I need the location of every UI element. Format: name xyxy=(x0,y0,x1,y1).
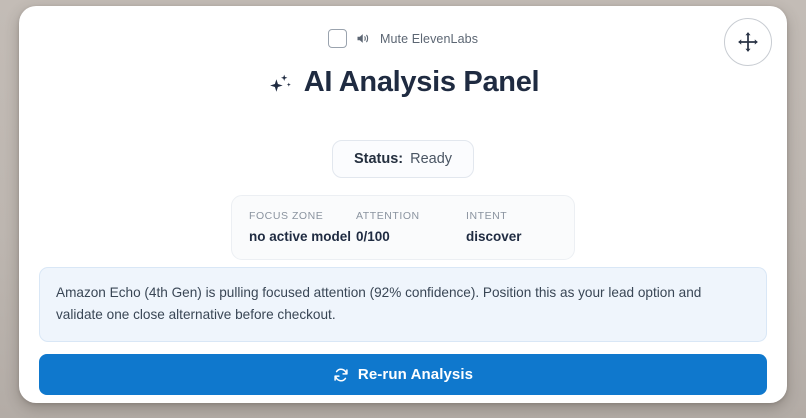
metric-focus-zone: FOCUS ZONE no active model xyxy=(249,210,356,244)
panel-drag-handle[interactable] xyxy=(724,18,772,66)
metrics-box: FOCUS ZONE no active model ATTENTION 0/1… xyxy=(231,195,575,260)
re-run-analysis-label: Re-run Analysis xyxy=(358,367,473,382)
page-background: Mute ElevenLabs AI Analysis Panel xyxy=(0,0,806,418)
page-title: AI Analysis Panel xyxy=(304,68,540,97)
metric-intent: INTENT discover xyxy=(466,210,522,244)
metric-value: 0/100 xyxy=(356,229,466,244)
metrics-row: FOCUS ZONE no active model ATTENTION 0/1… xyxy=(19,195,787,260)
insight-text: Amazon Echo (4th Gen) is pulling focused… xyxy=(56,282,750,326)
status-row: Status: Ready xyxy=(19,140,787,178)
speaker-icon xyxy=(356,31,371,46)
metric-attention: ATTENTION 0/100 xyxy=(356,210,466,244)
refresh-icon xyxy=(333,367,349,383)
status-badge: Status: Ready xyxy=(332,140,474,178)
status-value: Ready xyxy=(410,151,452,167)
metric-key: ATTENTION xyxy=(356,210,466,222)
mute-elevenlabs-label: Mute ElevenLabs xyxy=(380,32,478,46)
move-icon xyxy=(737,31,759,53)
panel-header: AI Analysis Panel xyxy=(19,68,787,97)
sparkle-icon xyxy=(267,69,293,97)
insight-panel: Amazon Echo (4th Gen) is pulling focused… xyxy=(39,267,767,342)
metric-key: INTENT xyxy=(466,210,522,222)
mute-control-row: Mute ElevenLabs xyxy=(19,29,787,48)
metric-value: discover xyxy=(466,229,522,244)
metric-key: FOCUS ZONE xyxy=(249,210,356,222)
re-run-analysis-button[interactable]: Re-run Analysis xyxy=(39,354,767,395)
metric-value: no active model xyxy=(249,229,356,244)
ai-analysis-panel-card: Mute ElevenLabs AI Analysis Panel xyxy=(19,6,787,403)
status-label: Status: xyxy=(354,151,403,167)
mute-elevenlabs-checkbox[interactable] xyxy=(328,29,347,48)
